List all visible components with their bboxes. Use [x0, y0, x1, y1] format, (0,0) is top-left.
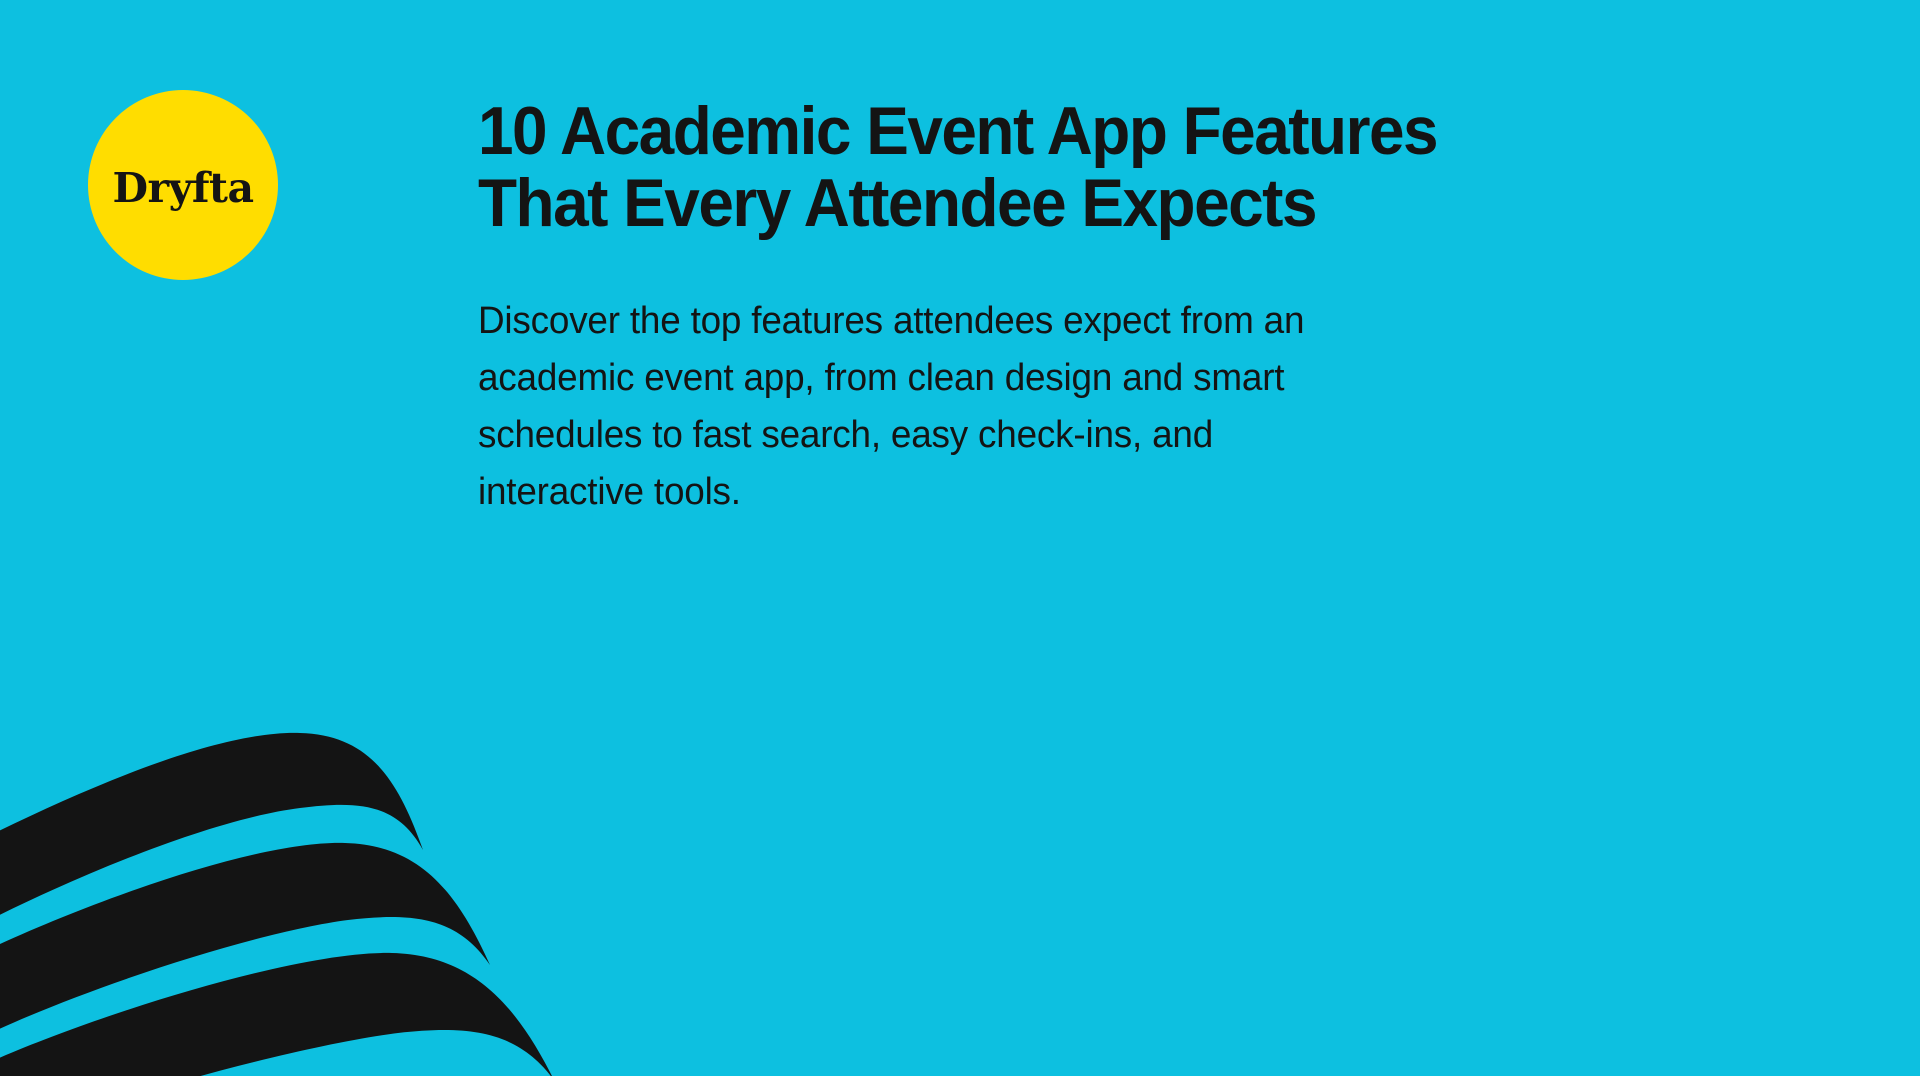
swoosh-wave-icon-2 [0, 843, 490, 1048]
subhead-line-4: interactive tools. [478, 464, 1409, 521]
subhead-line-2: academic event app, from clean design an… [478, 350, 1409, 407]
headline-line-2: That Every Attendee Expects [478, 167, 1380, 239]
subhead-line-3: schedules to fast search, easy check-ins… [478, 407, 1409, 464]
logo-wordmark: Dryfta [112, 164, 253, 212]
bottom-edge-strip [0, 1076, 1920, 1080]
swoosh-wave-group [0, 600, 620, 1080]
headline-line-1: 10 Academic Event App Features [478, 95, 1380, 167]
swoosh-wave-icon-1 [0, 733, 423, 935]
subhead-line-1: Discover the top features attendees expe… [478, 293, 1409, 350]
swoosh-wave-icon-3 [0, 953, 554, 1080]
logo-badge: Dryfta [88, 90, 278, 280]
page-subtitle: Discover the top features attendees expe… [478, 239, 1409, 521]
slide-canvas: Dryfta 10 Academic Event App Features Th… [0, 0, 1920, 1080]
text-column: 10 Academic Event App Features That Ever… [478, 95, 1438, 521]
page-title: 10 Academic Event App Features That Ever… [478, 95, 1380, 239]
